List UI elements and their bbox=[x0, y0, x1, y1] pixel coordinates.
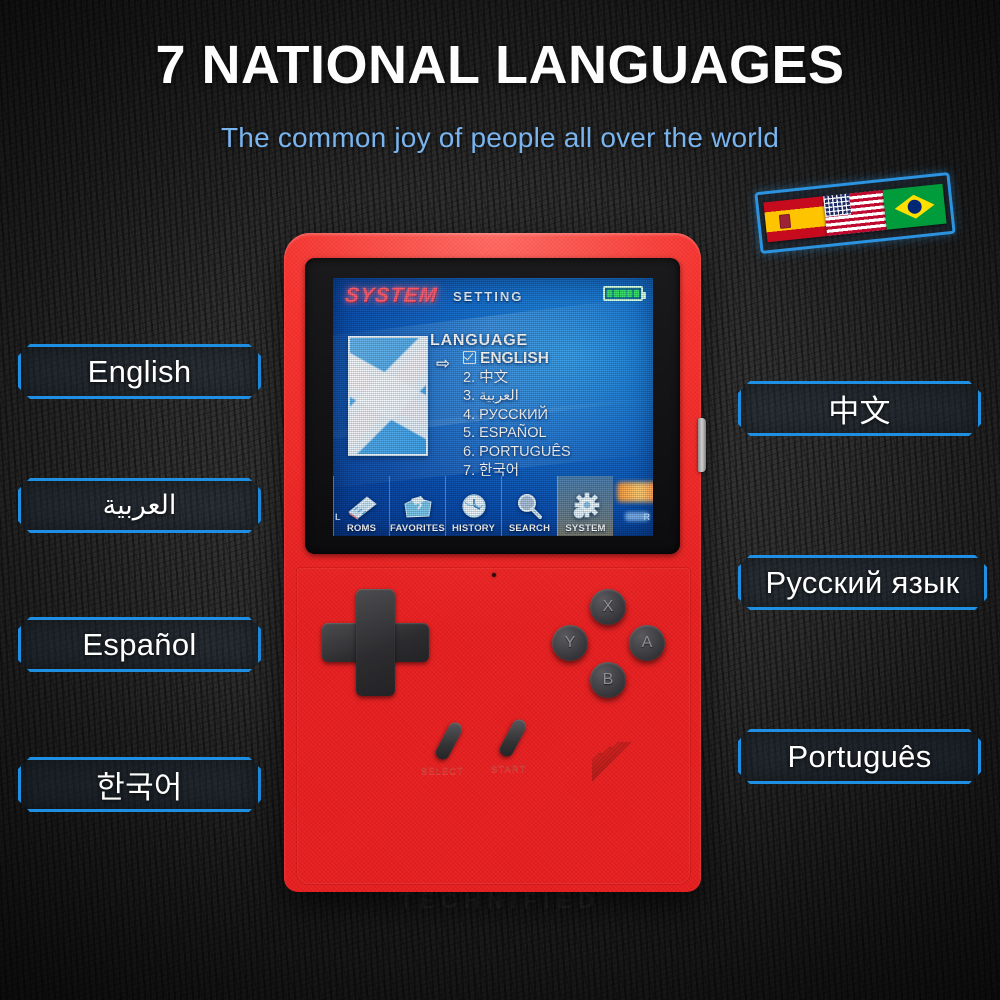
menu-item-arabic[interactable]: 3. العربية bbox=[463, 387, 633, 406]
selector-arrow-icon: ⇨ bbox=[436, 354, 450, 374]
button-x[interactable]: X bbox=[590, 589, 626, 625]
button-a[interactable]: A bbox=[629, 625, 665, 661]
d-pad[interactable] bbox=[322, 589, 429, 696]
tab-history[interactable]: HISTORY bbox=[445, 476, 501, 536]
roms-icon bbox=[345, 492, 379, 522]
indicator-led bbox=[492, 573, 496, 577]
menu-item-english[interactable]: ENGLISH bbox=[463, 350, 633, 369]
tab-search[interactable]: SEARCH bbox=[501, 476, 557, 536]
speaker-grille bbox=[592, 742, 664, 814]
search-icon bbox=[513, 492, 547, 522]
menu-item-portuguese[interactable]: 6. PORTUGUÊS bbox=[463, 443, 633, 462]
button-y[interactable]: Y bbox=[552, 625, 588, 661]
page-title: 7 NATIONAL LANGUAGES bbox=[0, 34, 1000, 96]
history-icon bbox=[457, 492, 491, 522]
badge-arabic[interactable]: العربية bbox=[18, 478, 261, 533]
menu-item-russian[interactable]: 4. РУССКИЙ bbox=[463, 406, 633, 425]
union-jack-flag-icon bbox=[348, 336, 428, 456]
checkbox-checked-icon bbox=[463, 351, 476, 364]
menu-heading: LANGUAGE bbox=[430, 332, 528, 350]
power-button[interactable] bbox=[698, 418, 706, 472]
screen-icon-bar[interactable]: ROMS FAVORITES HISTORY SEARCH bbox=[333, 476, 653, 536]
tab-favorites-label: FAVORITES bbox=[390, 523, 445, 534]
badge-chinese[interactable]: 中文 bbox=[738, 381, 981, 436]
favorites-icon bbox=[401, 492, 435, 522]
badge-russian[interactable]: Русский язык bbox=[738, 555, 987, 610]
menu-item-spanish[interactable]: 5. ESPAÑOL bbox=[463, 424, 633, 443]
badge-spanish[interactable]: Español bbox=[18, 617, 261, 672]
spain-flag-icon bbox=[763, 196, 827, 242]
menu-item-chinese[interactable]: 2. 中文 bbox=[463, 369, 633, 388]
tab-search-label: SEARCH bbox=[509, 523, 550, 534]
d-pad-vertical[interactable] bbox=[356, 589, 395, 696]
badge-korean[interactable]: 한국어 bbox=[18, 757, 261, 812]
screen-header-subtitle: SETTING bbox=[453, 289, 523, 304]
brazil-flag-icon bbox=[883, 184, 947, 230]
usa-flag-icon bbox=[823, 190, 887, 236]
screen-header-title: SYSTEM bbox=[344, 284, 439, 308]
tab-system[interactable]: SYSTEM bbox=[557, 476, 613, 536]
poster-canvas: TECHNIFIED TECHNIFIED 7 NATIONAL LANGUAG… bbox=[0, 0, 1000, 1000]
tab-favorites[interactable]: FAVORITES bbox=[389, 476, 445, 536]
badge-portuguese[interactable]: Português bbox=[738, 729, 981, 784]
console-screen: SYSTEM SETTING LANGUAGE ⇨ ENGLISH 2. 中文 … bbox=[333, 278, 653, 536]
page-subtitle: The common joy of people all over the wo… bbox=[0, 122, 1000, 154]
badge-english[interactable]: English bbox=[18, 344, 261, 399]
preview-thumbnail bbox=[613, 476, 653, 536]
tab-roms[interactable]: ROMS bbox=[333, 476, 389, 536]
system-gear-icon bbox=[569, 492, 603, 522]
button-b[interactable]: B bbox=[590, 662, 626, 698]
battery-icon bbox=[603, 286, 643, 301]
tab-roms-label: ROMS bbox=[347, 523, 376, 534]
tab-system-label: SYSTEM bbox=[565, 523, 605, 534]
start-button-label: START bbox=[491, 764, 526, 775]
language-menu-list[interactable]: ENGLISH 2. 中文 3. العربية 4. РУССКИЙ 5. E… bbox=[463, 350, 633, 480]
tab-history-label: HISTORY bbox=[452, 523, 495, 534]
select-button-label: SELECT bbox=[421, 766, 464, 777]
